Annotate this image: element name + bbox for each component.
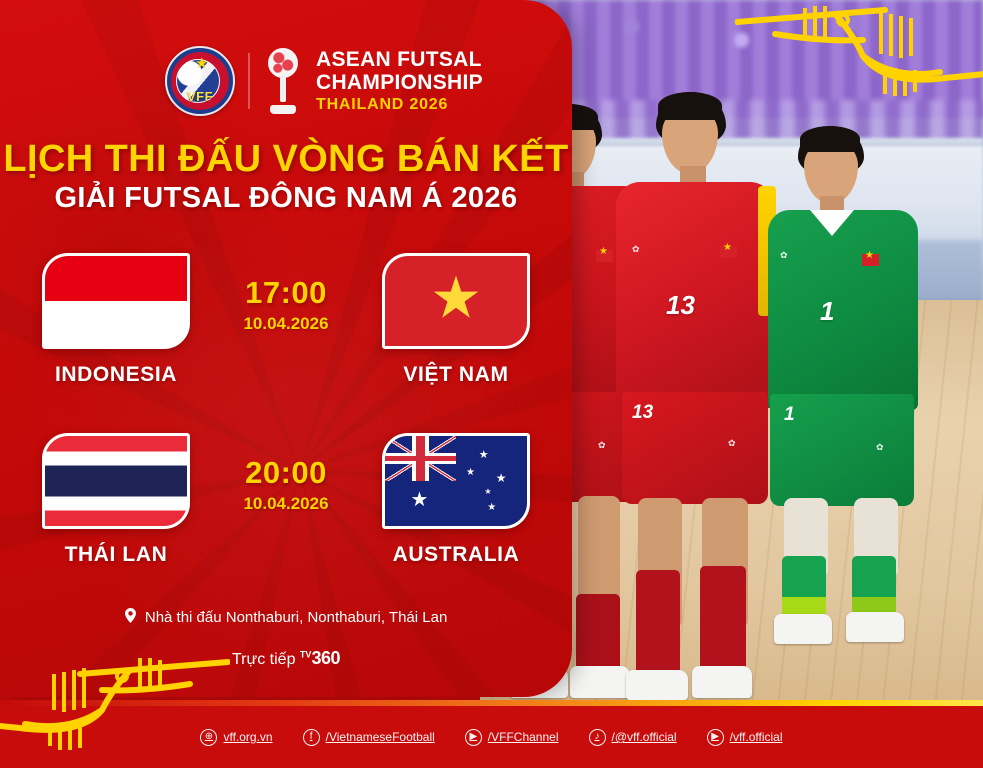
logo-row: ★ VFF ASEAN FUTSAL CHAMPIONSHIP THAILAND… (165, 46, 483, 116)
golden-crane-icon (735, 0, 983, 114)
australia-flag: ★ ★ ★ ★ ★ ★ (382, 433, 530, 529)
youtube-icon: ▶ (465, 729, 482, 746)
play-icon: ▶ (707, 729, 724, 746)
home-team: THÁI LAN (21, 433, 211, 567)
venue-info: Nhà thi đấu Nonthaburi, Nonthaburi, Thái… (0, 608, 572, 627)
social-link-label: vff.org.vn (223, 730, 272, 744)
location-pin-icon (125, 608, 136, 627)
social-link-youtube[interactable]: ▶ /VFFChannel (465, 729, 559, 746)
logo-divider (248, 53, 250, 109)
match-kickoff: 20:00 10.04.2026 (211, 433, 361, 514)
social-link-tiktok[interactable]: ♪ /@vff.official (589, 729, 677, 746)
match-time: 20:00 (211, 455, 361, 491)
away-team: ★ ★ ★ ★ ★ ★ AUSTRALIA (361, 433, 551, 567)
star-icon: ★ (195, 56, 208, 71)
vff-logo: ★ VFF (165, 46, 235, 116)
away-team: ★ VIỆT NAM (361, 253, 551, 387)
vietnam-flag: ★ (382, 253, 530, 349)
tv360-logo: TV360 (300, 651, 340, 668)
social-link-label: /@vff.official (612, 730, 677, 744)
indonesia-flag (42, 253, 190, 349)
championship-line-3: THAILAND 2026 (316, 96, 483, 114)
match-time: 17:00 (211, 275, 361, 311)
championship-wordmark: ASEAN FUTSAL CHAMPIONSHIP THAILAND 2026 (316, 48, 483, 114)
star-icon: ★ (430, 270, 482, 328)
tv360-sup: TV (300, 650, 312, 660)
tv360-number: 360 (311, 648, 340, 668)
trophy-icon (263, 48, 303, 114)
match-row: THÁI LAN 20:00 10.04.2026 ★ ★ ★ ★ ★ ★ AU… (0, 433, 572, 567)
away-team-name: VIỆT NAM (361, 363, 551, 387)
page-subtitle: GIẢI FUTSAL ĐÔNG NAM Á 2026 (0, 182, 572, 215)
venue-text: Nhà thi đấu Nonthaburi, Nonthaburi, Thái… (145, 609, 447, 626)
home-team-name: THÁI LAN (21, 543, 211, 567)
social-link-play[interactable]: ▶ /vff.official (707, 729, 783, 746)
page-title: LỊCH THI ĐẤU VÒNG BÁN KẾT (0, 138, 572, 181)
home-team-name: INDONESIA (21, 363, 211, 387)
match-date: 10.04.2026 (211, 314, 361, 334)
vff-logo-text: VFF (167, 89, 233, 104)
info-panel: ★ VFF ASEAN FUTSAL CHAMPIONSHIP THAILAND… (0, 0, 572, 697)
match-kickoff: 17:00 10.04.2026 (211, 253, 361, 334)
golden-crane-icon (0, 640, 230, 760)
social-link-label: /VietnameseFootball (326, 730, 435, 744)
championship-line-1: ASEAN FUTSAL (316, 48, 483, 71)
social-link-facebook[interactable]: f /VietnameseFootball (303, 729, 435, 746)
facebook-icon: f (303, 729, 320, 746)
thailand-flag (42, 433, 190, 529)
away-team-name: AUSTRALIA (361, 543, 551, 567)
championship-line-2: CHAMPIONSHIP (316, 71, 483, 94)
match-row: INDONESIA 17:00 10.04.2026 ★ VIỆT NAM (0, 253, 572, 387)
home-team: INDONESIA (21, 253, 211, 387)
social-link-label: /vff.official (730, 730, 783, 744)
broadcast-label: Trực tiếp (232, 651, 295, 668)
social-link-label: /VFFChannel (488, 730, 559, 744)
tiktok-icon: ♪ (589, 729, 606, 746)
match-date: 10.04.2026 (211, 494, 361, 514)
